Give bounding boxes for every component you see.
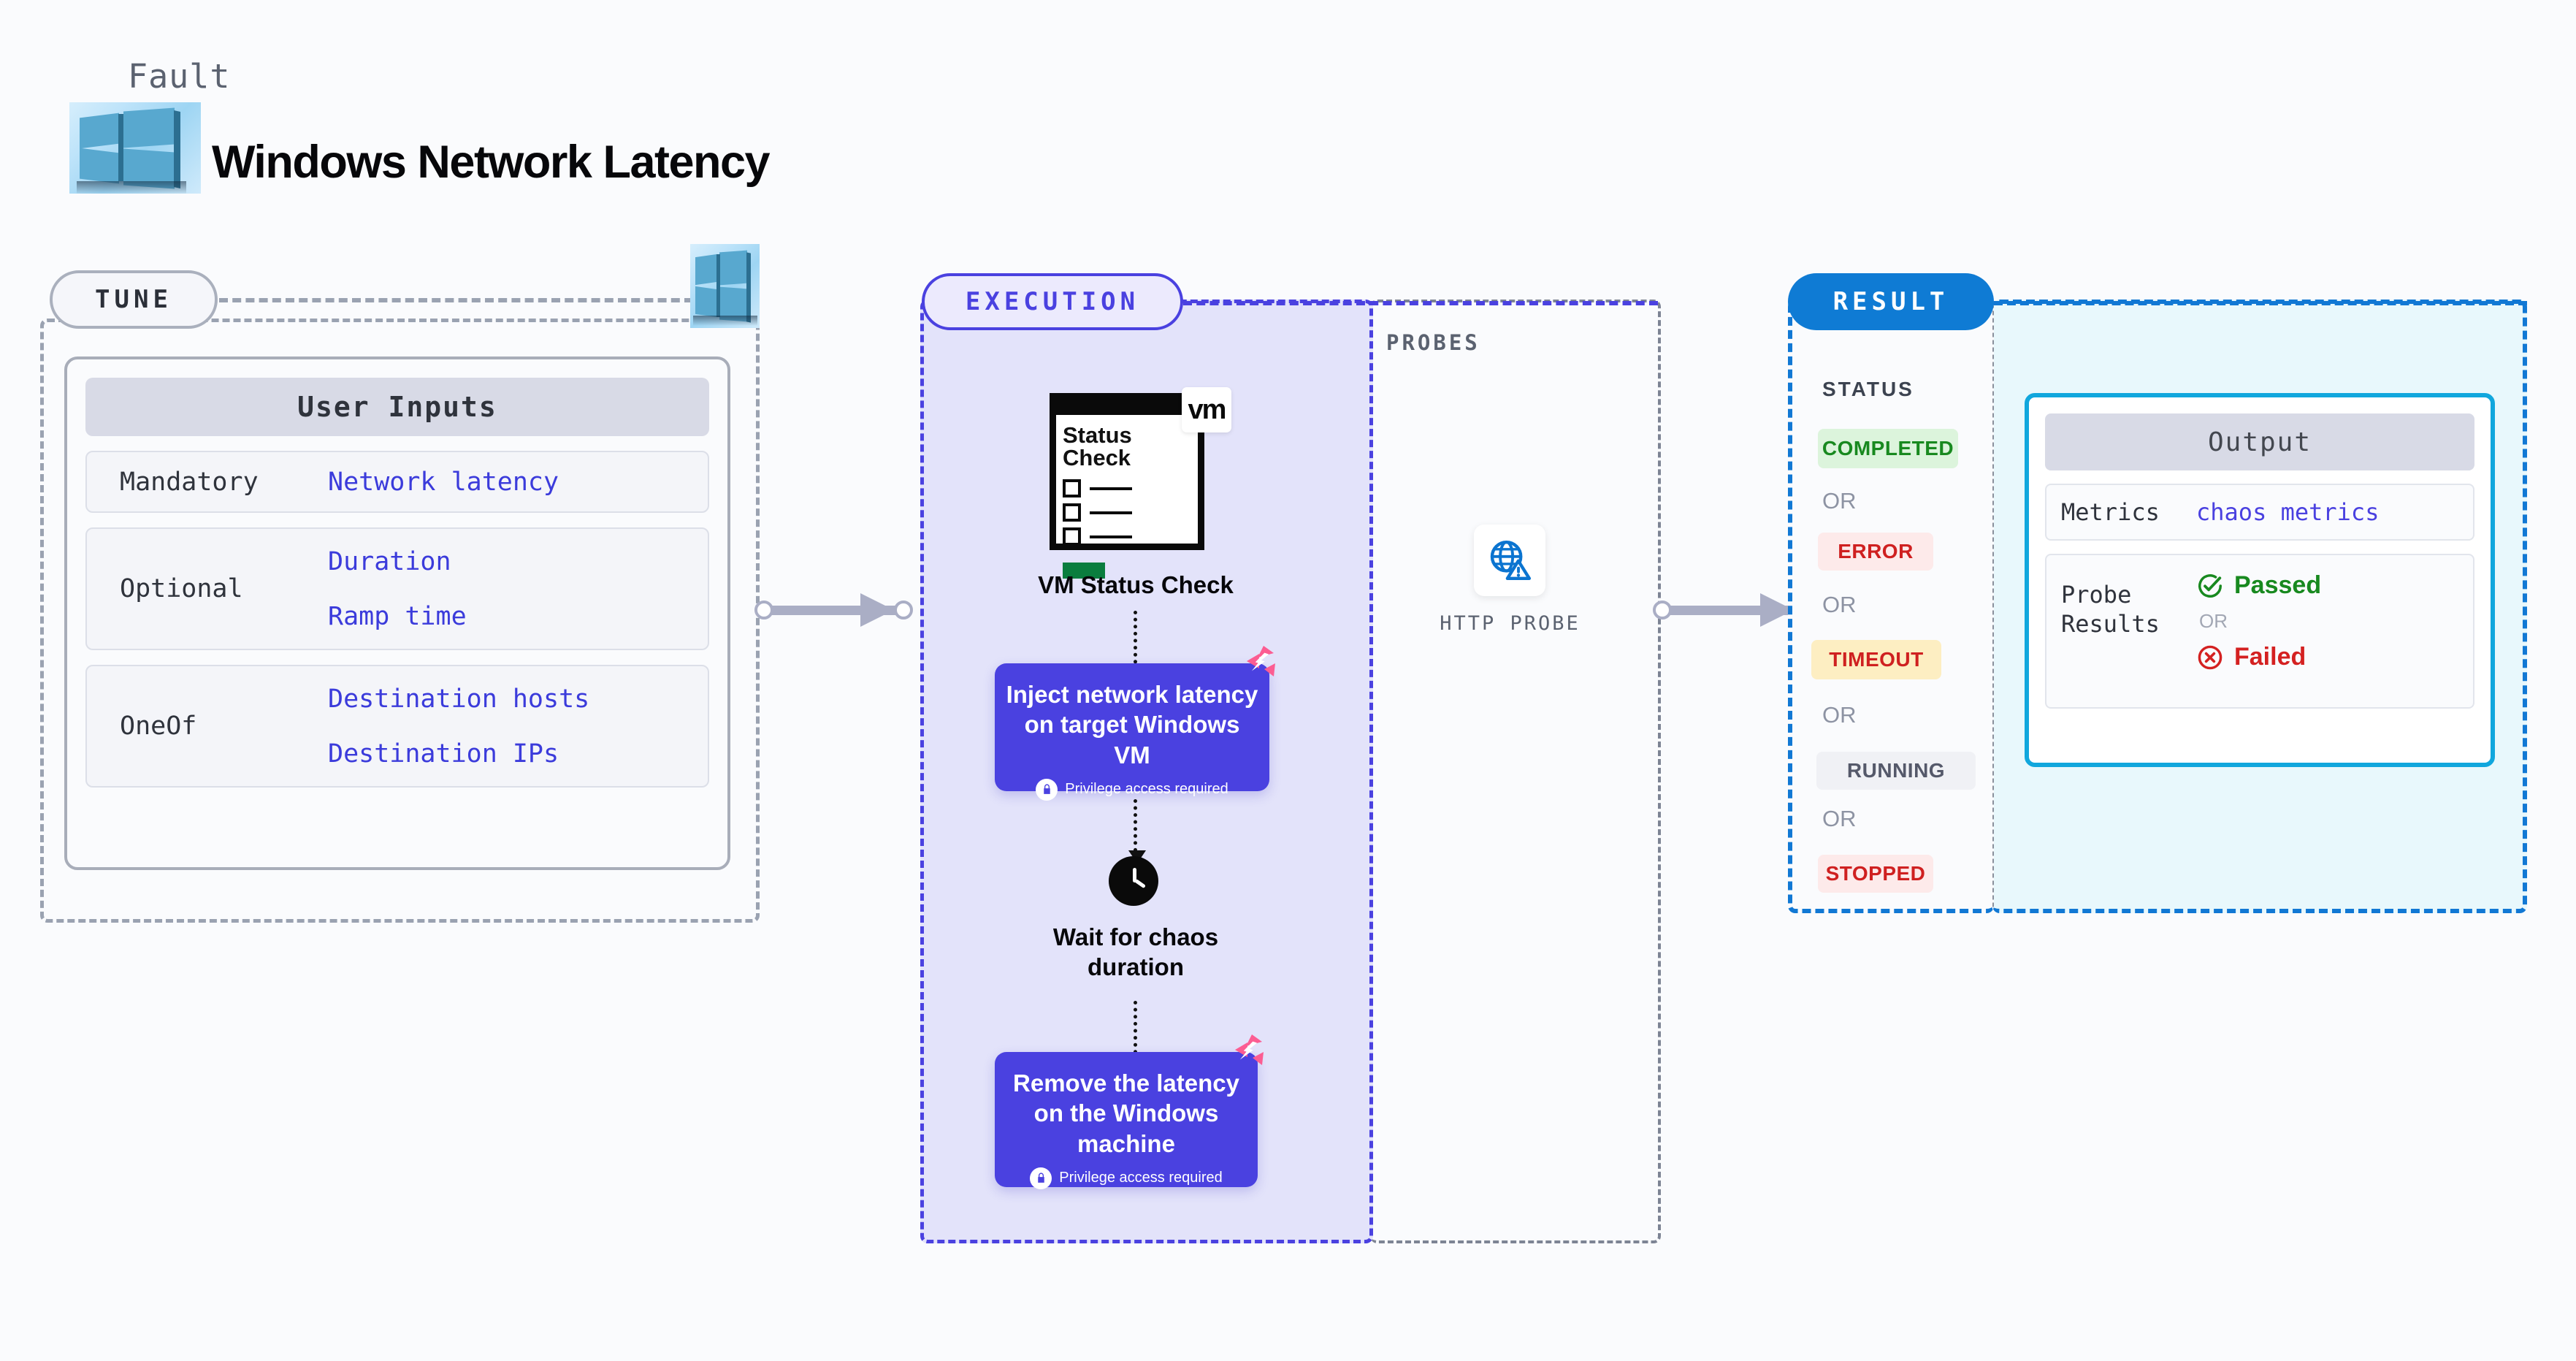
execution-region-label: EXECUTION: [922, 273, 1183, 330]
wait-caption: Wait for chaos duration: [1023, 922, 1249, 983]
input-row-values: Network latency: [328, 454, 559, 510]
input-row-values: Destination hosts Destination IPs: [328, 671, 589, 782]
input-row-values: Duration Ramp time: [328, 534, 467, 644]
flow-arrow: [1134, 611, 1137, 671]
fault-kicker-label: Fault: [128, 57, 230, 96]
privilege-text: Privilege access required: [1065, 781, 1228, 798]
output-title: Output: [2045, 413, 2474, 470]
lock-icon: [1030, 1167, 1052, 1189]
globe-warning-icon: [1487, 538, 1532, 583]
user-inputs-card: User Inputs Mandatory Network latency Op…: [64, 357, 730, 870]
or-label: OR: [1822, 592, 1857, 618]
http-probe-caption: HTTP PROBE: [1428, 612, 1592, 635]
status-badge-error: ERROR: [1818, 533, 1933, 571]
input-row-label: OneOf: [87, 712, 328, 741]
execution-step-inject-latency[interactable]: Inject network latency on target Windows…: [995, 663, 1269, 791]
vm-status-check-caption: VM Status Check: [1033, 571, 1238, 599]
input-value[interactable]: Ramp time: [328, 602, 467, 631]
privilege-text: Privilege access required: [1059, 1170, 1222, 1186]
step-title: Remove the latency on the Windows machin…: [1005, 1068, 1247, 1159]
output-row-label: ProbeResults: [2046, 555, 2196, 638]
or-label: OR: [2199, 610, 2321, 633]
x-circle-icon: [2196, 644, 2224, 671]
vm-status-check-icon: Status Check vm: [1050, 393, 1218, 550]
input-row-optional[interactable]: Optional Duration Ramp time: [85, 527, 709, 650]
page-header: Fault Windows Network Latency: [69, 50, 946, 196]
status-badge-timeout: TIMEOUT: [1811, 640, 1941, 679]
probe-result-passed: Passed: [2196, 571, 2321, 600]
input-row-oneof[interactable]: OneOf Destination hosts Destination IPs: [85, 665, 709, 788]
step-title: Inject network latency on target Windows…: [1005, 679, 1259, 770]
status-badge-completed: COMPLETED: [1818, 429, 1958, 468]
probes-region: [1370, 300, 1661, 1243]
vm-status-check-card-title: Status Check: [1063, 424, 1132, 469]
windows-logo-icon: [69, 102, 201, 194]
or-label: OR: [1822, 806, 1857, 832]
input-value[interactable]: Network latency: [328, 468, 559, 497]
input-value[interactable]: Destination IPs: [328, 739, 589, 769]
input-row-label: Mandatory: [87, 468, 328, 497]
privilege-note: Privilege access required: [1005, 1167, 1247, 1189]
harness-chaos-icon: [1242, 644, 1281, 679]
status-column-title: STATUS: [1822, 378, 1914, 401]
output-row-probe-results: ProbeResults Passed OR Failed: [2045, 554, 2474, 709]
input-row-mandatory[interactable]: Mandatory Network latency: [85, 451, 709, 513]
lock-icon: [1036, 779, 1058, 801]
probe-result-failed: Failed: [2196, 643, 2321, 671]
result-region-label: RESULT: [1788, 273, 1994, 330]
or-label: OR: [1822, 488, 1857, 514]
status-badge-running: RUNNING: [1816, 752, 1976, 790]
flow-arrow: [1134, 799, 1137, 852]
result-top-dashed-line: [1994, 301, 2527, 305]
input-value[interactable]: Duration: [328, 547, 467, 576]
tune-top-dashed-line: [219, 298, 760, 302]
check-circle-icon: [2196, 572, 2224, 600]
input-row-label: Optional: [87, 574, 328, 603]
execution-top-dashed-line: [1183, 301, 1658, 305]
user-inputs-title: User Inputs: [85, 378, 709, 436]
vmware-badge-icon: vm: [1182, 387, 1231, 432]
input-value[interactable]: Destination hosts: [328, 685, 589, 714]
probe-result-values: Passed OR Failed: [2196, 555, 2321, 687]
windows-logo-icon: [690, 244, 760, 328]
output-row-value[interactable]: chaos metrics: [2196, 498, 2379, 526]
tune-region-label: TUNE: [50, 270, 218, 329]
harness-chaos-icon: [1230, 1033, 1269, 1068]
output-row-label: Metrics: [2046, 497, 2196, 527]
probes-title: PROBES: [1386, 330, 1480, 355]
diagram-canvas: Fault Windows Network Latency TUNE User …: [0, 0, 2576, 1361]
output-row-metrics[interactable]: Metrics chaos metrics: [2045, 484, 2474, 541]
status-badge-stopped: STOPPED: [1818, 855, 1933, 893]
http-probe-tile[interactable]: [1474, 525, 1545, 596]
connector-tune-to-execution: [751, 593, 930, 627]
page-title: Windows Network Latency: [212, 136, 769, 188]
or-label: OR: [1822, 702, 1857, 728]
privilege-note: Privilege access required: [1005, 779, 1259, 801]
vm-checklist: [1063, 479, 1132, 552]
clock-icon: [1109, 856, 1158, 906]
execution-step-remove-latency[interactable]: Remove the latency on the Windows machin…: [995, 1052, 1258, 1187]
output-card: Output Metrics chaos metrics ProbeResult…: [2025, 393, 2495, 767]
